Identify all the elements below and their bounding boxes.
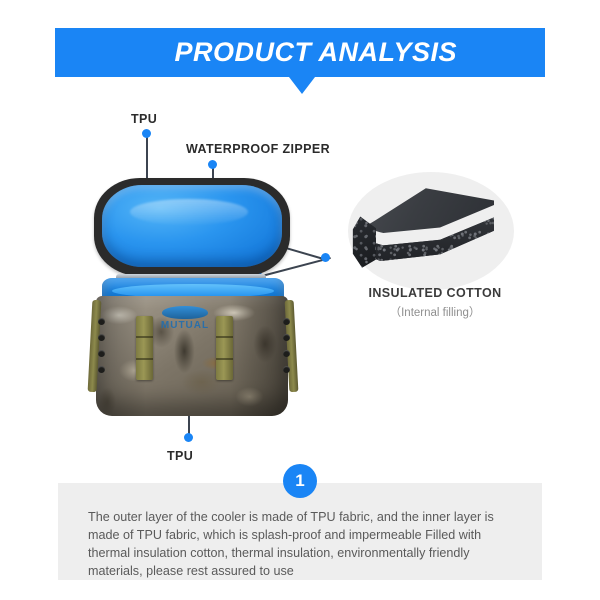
brand-mark-icon xyxy=(162,306,208,319)
callout-dot-tpu-top xyxy=(142,129,151,138)
banner-notch-arrow xyxy=(289,77,315,94)
step-number-badge: 1 xyxy=(283,464,317,498)
page-title: PRODUCT ANALYSIS xyxy=(174,37,457,68)
callout-label-tpu-top: TPU xyxy=(131,112,157,126)
grommet-icon xyxy=(283,334,290,341)
brand-logo: MUTUAL xyxy=(150,306,220,332)
callout-label-tpu-bottom: TPU xyxy=(167,449,193,463)
callout-label-waterproof-zipper: WATERPROOF ZIPPER xyxy=(186,142,330,156)
insulated-cotton-title: INSULATED COTTON xyxy=(340,286,530,300)
cooler-lid-tpu-lining xyxy=(102,185,282,267)
cooler-lid xyxy=(94,178,290,276)
grommet-icon xyxy=(98,350,105,357)
lid-gloss-highlight xyxy=(130,199,248,225)
grommet-icon xyxy=(98,318,105,325)
product-analysis-page: PRODUCT ANALYSIS TPU WATERPROOF ZIPPER T… xyxy=(0,0,600,600)
cooler-product-image: MUTUAL xyxy=(88,178,300,418)
grommet-icon xyxy=(283,366,290,373)
grommet-icon xyxy=(283,318,290,325)
grommet-icon xyxy=(98,366,105,373)
insulated-cotton-subtitle: （Internal filling） xyxy=(340,304,530,320)
grommet-icon xyxy=(283,350,290,357)
foam-block xyxy=(352,186,494,270)
callout-dot-waterproof-zipper xyxy=(208,160,217,169)
insulated-cotton-image xyxy=(348,172,514,292)
grommet-icon xyxy=(98,334,105,341)
callout-dot-insulated-cotton xyxy=(321,253,330,262)
description-text: The outer layer of the cooler is made of… xyxy=(88,508,512,580)
header-banner: PRODUCT ANALYSIS xyxy=(55,28,545,77)
callout-dot-tpu-bottom xyxy=(184,433,193,442)
insulated-cotton-caption: INSULATED COTTON （Internal filling） xyxy=(340,286,530,320)
brand-wordmark: MUTUAL xyxy=(150,320,220,331)
